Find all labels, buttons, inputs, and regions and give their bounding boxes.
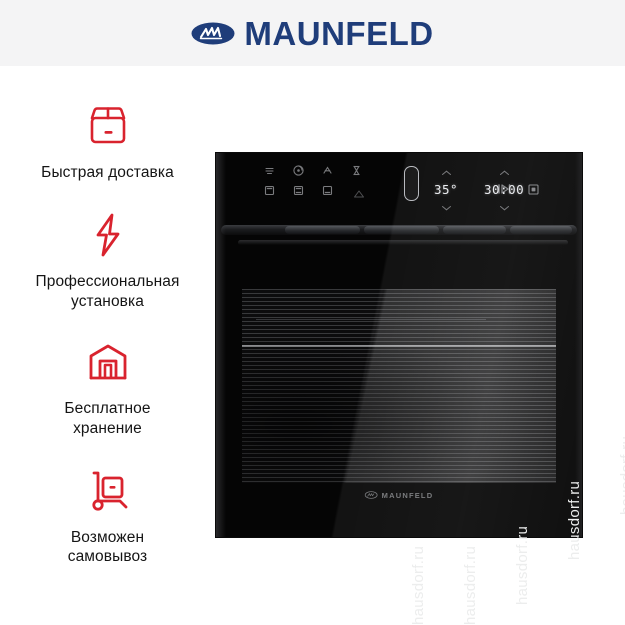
- defrost-icon[interactable]: [321, 164, 350, 184]
- feature-label: Возможен самовывоз: [68, 528, 148, 567]
- oven-product-image: 35° 30:00: [216, 153, 582, 537]
- feature-label-line2: установка: [71, 293, 144, 310]
- handle-segment: [364, 226, 439, 234]
- bottom-heat-icon[interactable]: [321, 184, 350, 204]
- feature-label-line2: самовывоз: [68, 548, 148, 565]
- start-pause-icon[interactable]: [497, 183, 511, 195]
- feature-label-line1: Профессиональная: [35, 273, 179, 290]
- handle-segment: [443, 226, 506, 234]
- watermark-text: hausdorf.ru: [462, 546, 479, 625]
- watermark-text: hausdorf.ru: [514, 526, 531, 605]
- oven-left-edge: [216, 153, 226, 537]
- feature-free-storage: Бесплатное хранение: [8, 334, 208, 438]
- oven-right-edge: [575, 153, 582, 537]
- fan-icon[interactable]: [292, 164, 321, 184]
- feature-fast-delivery: Быстрая доставка: [8, 98, 208, 182]
- maunfeld-logo: MAUNFELD: [191, 17, 433, 50]
- oven-door-window: [242, 289, 556, 483]
- control-knob[interactable]: [404, 166, 419, 201]
- watermark-text: hausdorf.ru: [618, 436, 625, 515]
- top-bottom-heat-icon[interactable]: [292, 184, 321, 204]
- menu-lines-icon[interactable]: [263, 164, 292, 184]
- door-handle[interactable]: [216, 216, 582, 250]
- feature-label-line2: хранение: [73, 420, 142, 437]
- steam-icon: [353, 186, 365, 204]
- chevron-down-icon[interactable]: [441, 198, 452, 216]
- oven-control-panel: 35° 30:00: [216, 153, 582, 215]
- temperature-readout[interactable]: 35°: [434, 163, 458, 216]
- chevron-up-icon[interactable]: [441, 163, 452, 181]
- features-list: Быстрая доставка Профессиональная устано…: [0, 76, 215, 576]
- watermark-text: hausdorf.ru: [410, 546, 427, 625]
- maunfeld-oval-logo-icon: [365, 486, 378, 504]
- warehouse-icon: [83, 334, 133, 390]
- brand-name: MAUNFELD: [244, 17, 433, 50]
- door-brand-text: MAUNFELD: [382, 491, 434, 500]
- handle-segment: [285, 226, 360, 234]
- oven-lamp-icon[interactable]: [527, 183, 540, 196]
- feature-professional-installation: Профессиональная установка: [8, 207, 208, 311]
- timer-hourglass-icon[interactable]: [350, 164, 379, 184]
- page-header: MAUNFELD: [0, 0, 625, 66]
- feature-self-pickup: Возможен самовывоз: [8, 463, 208, 567]
- maunfeld-oval-logo-icon: [191, 20, 235, 47]
- lightning-bolt-icon: [85, 207, 131, 263]
- feature-label-line1: Возможен: [71, 529, 144, 546]
- feature-label: Быстрая доставка: [41, 163, 174, 182]
- glass-shadow: [242, 289, 556, 483]
- feature-label: Профессиональная установка: [35, 272, 179, 311]
- feature-label-line1: Бесплатное: [64, 400, 150, 417]
- chevron-down-icon[interactable]: [499, 198, 510, 216]
- feature-label: Бесплатное хранение: [64, 399, 150, 438]
- handle-shadow: [238, 240, 568, 245]
- top-heat-icon[interactable]: [263, 184, 292, 204]
- chevron-up-icon[interactable]: [499, 163, 510, 181]
- door-brand-badge: MAUNFELD: [365, 486, 434, 504]
- handle-segment: [510, 226, 572, 234]
- package-box-icon: [83, 98, 133, 154]
- hand-truck-icon: [82, 463, 134, 519]
- temperature-value: 35°: [434, 182, 458, 197]
